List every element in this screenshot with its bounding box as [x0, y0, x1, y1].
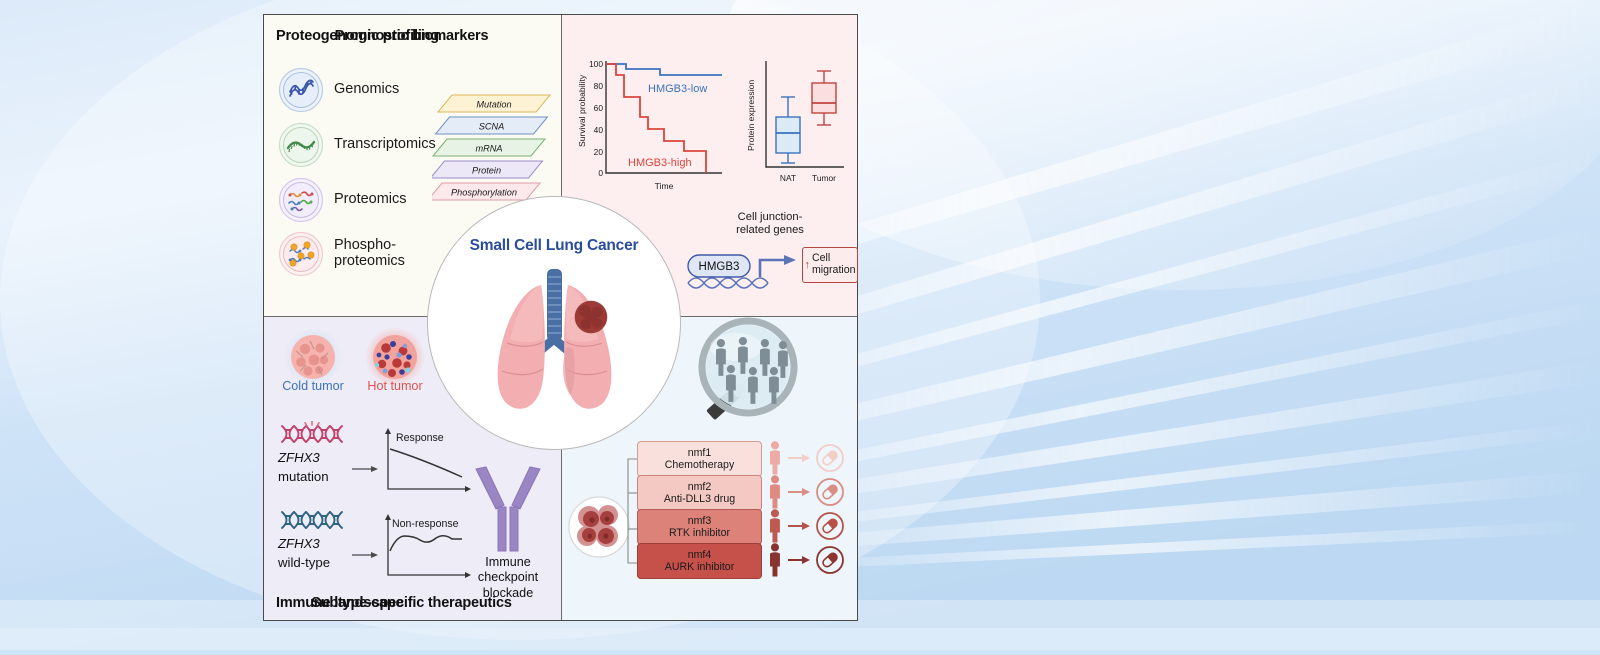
up-arrow-icon: ↑: [804, 259, 810, 271]
cell-migration-box: ↑ Cell migration: [802, 247, 858, 283]
subtype-id-nmf2: nmf2: [688, 481, 712, 493]
antibody-icon: [462, 465, 554, 562]
magnifier-over-patients-icon: [670, 315, 810, 444]
svg-text:HMGB3-low: HMGB3-low: [648, 83, 707, 95]
subtype-box-nmf4[interactable]: nmf4 AURK inhibitor: [637, 543, 762, 579]
patient-row-nmf2: [770, 475, 843, 508]
cell-migration-label: Cell migration: [812, 253, 856, 277]
svg-text:Survival probability: Survival probability: [577, 74, 587, 147]
svg-text:40: 40: [594, 125, 604, 135]
hmgb3-mechanism: Cell junction- related genes HMGB3 ↑ Cel…: [684, 211, 856, 297]
boxplot-cat-nat: NAT: [780, 173, 796, 183]
zfhx3-wildtype-label: ZFHX3 wild-type: [278, 535, 330, 573]
patient-figure-nmf2: [770, 475, 780, 508]
svg-text:Time: Time: [655, 181, 674, 191]
gene-label-hmgb3: HMGB3: [699, 261, 740, 273]
patient-row-nmf3: [770, 509, 843, 542]
omics-layer-label-mrna: mRNA: [475, 144, 502, 154]
pill-icon-nmf4: [821, 552, 838, 569]
zfhx3-mutation-helix-icon: [278, 421, 356, 452]
subtype-id-nmf1: nmf1: [688, 447, 712, 459]
omics-row-phosphoproteomics: Phospho- proteomics: [278, 231, 405, 277]
patient-figure-nmf3: [770, 509, 780, 542]
subtype-therapy-nmf4: AURK inhibitor: [665, 561, 734, 573]
lungs-illustration: [428, 197, 680, 449]
svg-text:80: 80: [594, 81, 604, 91]
boxplot-cat-tumor: Tumor: [812, 173, 836, 183]
pill-icon-nmf1: [821, 450, 838, 467]
omics-row-genomics: Genomics: [278, 67, 399, 113]
patient-row-nmf1: [770, 441, 843, 474]
phosphoprotein-icon: [278, 231, 324, 277]
antibody-label: Immune checkpoint blockade: [460, 555, 556, 601]
zfhx3-wildtype-helix-icon: [278, 507, 356, 538]
svg-text:100: 100: [589, 59, 603, 69]
pill-icon-nmf3: [821, 518, 838, 535]
patient-pill-rows: [766, 435, 854, 585]
omics-layer-label-protein: Protein: [472, 166, 501, 176]
omics-layer-label-scna: SCNA: [479, 122, 505, 132]
subtype-therapy-nmf2: Anti-DLL3 drug: [664, 493, 735, 505]
arrow-icon-mutation: [352, 463, 378, 475]
nonresponse-curve-label: Non-response: [392, 518, 459, 530]
subtype-therapy-nmf1: Chemotherapy: [665, 459, 735, 471]
omics-label-proteomics: Proteomics: [334, 192, 407, 208]
omics-label-phosphoproteomics: Phospho- proteomics: [334, 238, 405, 269]
omics-label-genomics: Genomics: [334, 82, 399, 98]
arrow-icon-wildtype: [352, 549, 378, 561]
gene-state-wildtype: wild-type: [278, 555, 330, 570]
cell-junction-caption: Cell junction- related genes: [684, 211, 856, 237]
graphical-abstract: Proteogenomic profiling Prognostic bioma…: [263, 14, 858, 621]
patient-figure-nmf1: [770, 441, 780, 474]
omics-layer-label-mutation: Mutation: [476, 100, 511, 110]
omics-label-transcriptomics: Transcriptomics: [334, 137, 436, 153]
subtype-id-nmf3: nmf3: [688, 515, 712, 527]
protein-expression-boxplot: Protein expression NAT Tumor: [740, 55, 848, 195]
panel-title-prognostic: Prognostic biomarkers: [264, 28, 559, 44]
omics-row-transcriptomics: Transcriptomics: [278, 122, 436, 168]
zfhx3-mutation-label: ZFHX3 mutation: [278, 449, 329, 487]
omics-layer-stack: MutationSCNAmRNAProteinPhosphorylation: [432, 85, 557, 205]
center-circle: Small Cell Lung Cancer: [427, 196, 681, 450]
dna-helix-icon: [278, 67, 324, 113]
rna-strand-icon: [278, 122, 324, 168]
subtype-box-nmf3[interactable]: nmf3 RTK inhibitor: [637, 509, 762, 545]
omics-layer-label-phosphorylation: Phosphorylation: [451, 188, 517, 198]
svg-text:HMGB3-high: HMGB3-high: [628, 157, 692, 169]
cold-tumor-label: Cold tumor: [270, 379, 356, 393]
svg-text:0: 0: [598, 168, 603, 178]
hot-tumor-label: Hot tumor: [352, 379, 438, 393]
patient-row-nmf4: [770, 543, 843, 576]
svg-text:60: 60: [594, 103, 604, 113]
svg-text:Protein expression: Protein expression: [746, 80, 756, 151]
subtype-box-nmf2[interactable]: nmf2 Anti-DLL3 drug: [637, 475, 762, 511]
omics-row-proteomics: Proteomics: [278, 177, 407, 223]
km-survival-plot: 10080 6040 200 Survival probability Time…: [572, 55, 727, 195]
svg-text:20: 20: [594, 147, 604, 157]
patient-figure-nmf4: [770, 543, 780, 576]
gene-state-mutation: mutation: [278, 469, 329, 484]
gene-name-zfhx3-mut: ZFHX3: [278, 450, 320, 465]
gene-name-zfhx3-wt: ZFHX3: [278, 536, 320, 551]
subtype-id-nmf4: nmf4: [688, 549, 712, 561]
pill-icon-nmf2: [821, 484, 838, 501]
subtype-therapy-nmf3: RTK inhibitor: [669, 527, 730, 539]
tumor-nodule: [575, 301, 607, 333]
protein-squiggle-icon: [278, 177, 324, 223]
